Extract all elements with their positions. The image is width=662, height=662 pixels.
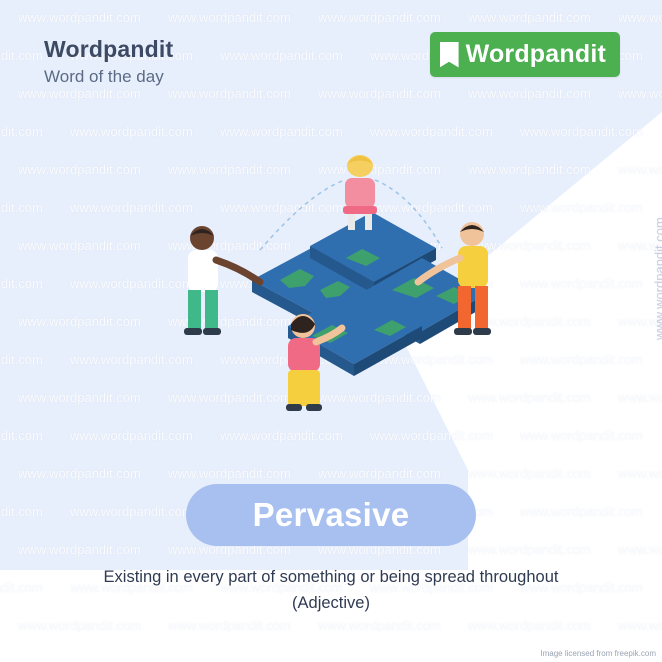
bookmark-icon <box>440 42 459 68</box>
logo-text: Wordpandit <box>466 40 606 69</box>
watermark-text: www.wordpandit.com <box>618 314 662 329</box>
wordpandit-logo[interactable]: Wordpandit <box>430 32 620 77</box>
watermark-text: www.wordpandit.com <box>520 352 643 367</box>
part-of-speech: (Adjective) <box>0 594 662 613</box>
watermark-text: www.wordpandit.com <box>468 542 591 557</box>
watermark-text: www.wordpandit.com <box>618 238 662 253</box>
word-definition: Existing in every part of something or b… <box>0 568 662 587</box>
brand-title: Wordpandit <box>44 36 173 63</box>
watermark-text: www.wordpandit.com <box>618 390 662 405</box>
watermark-text: www.wordpandit.com <box>468 466 591 481</box>
image-credit: Image licensed from freepik.com <box>540 649 656 658</box>
brand-block: Wordpandit Word of the day <box>44 36 173 87</box>
word-of-the-day-card: Wordpandit Word of the day Wordpandit Pe… <box>0 0 662 662</box>
word-of-the-day: Pervasive <box>253 496 410 534</box>
watermark-text: www.wordpandit.com <box>618 162 662 177</box>
watermark-text: www.wordpandit.com <box>618 542 662 557</box>
watermark-text: www.wordpandit.com <box>520 276 643 291</box>
word-pill: Pervasive <box>186 484 476 546</box>
watermark-text: www.wordpandit.com <box>520 428 643 443</box>
watermark-side-text: www.wordpandit.com <box>652 217 662 340</box>
illustration <box>160 140 520 440</box>
watermark-text: www.wordpandit.com <box>618 466 662 481</box>
brand-subtitle: Word of the day <box>44 67 173 87</box>
watermark-text: www.wordpandit.com <box>520 504 643 519</box>
